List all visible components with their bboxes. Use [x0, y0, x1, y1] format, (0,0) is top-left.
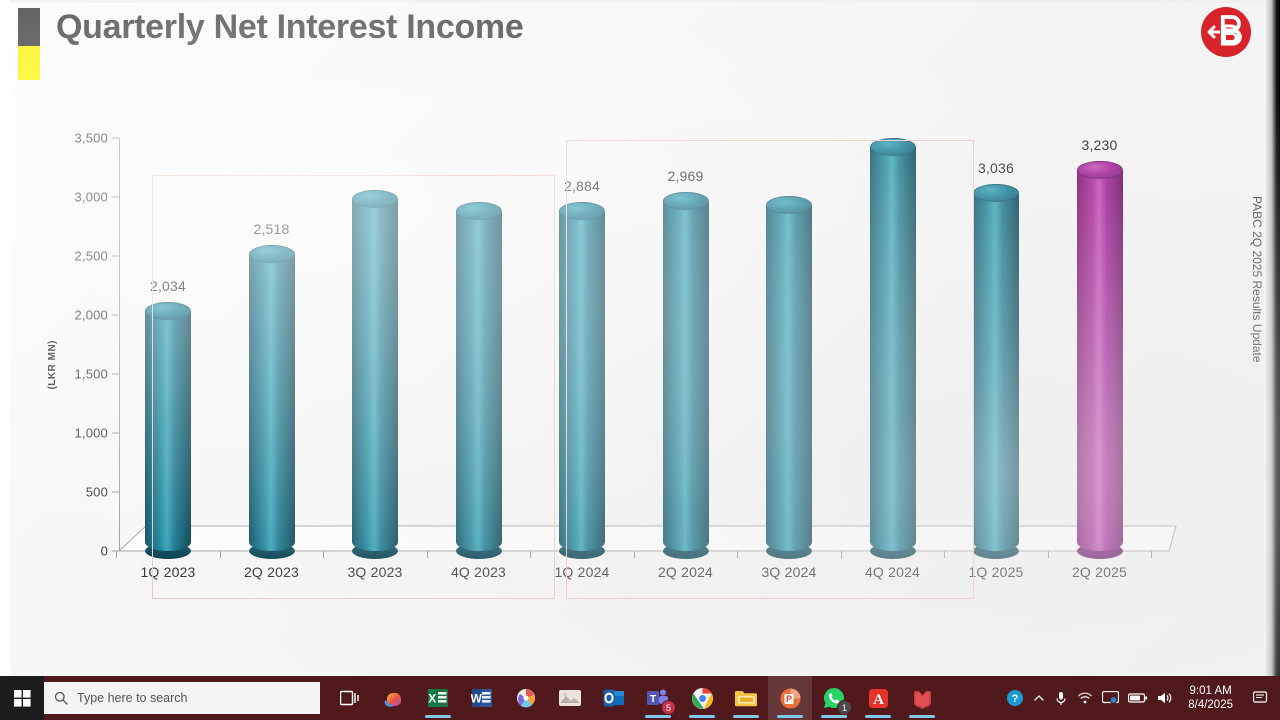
- bar-body: [1077, 170, 1123, 551]
- x-tick-mark: [116, 551, 117, 558]
- notification-badge: 5: [661, 700, 676, 715]
- bar-top-cap: [1077, 161, 1123, 179]
- running-indicator: [865, 715, 891, 718]
- y-tick-mark: [112, 492, 119, 493]
- notification-badge: 1: [837, 700, 852, 715]
- y-tick-label: 3,000: [20, 190, 108, 205]
- taskbar-file-explorer-icon[interactable]: [724, 676, 768, 720]
- system-tray: ?: [1006, 676, 1280, 720]
- y-tick-label: 2,500: [20, 249, 108, 264]
- running-indicator: [909, 715, 935, 718]
- battery-icon[interactable]: [1128, 692, 1148, 704]
- svg-text:?: ?: [1012, 693, 1019, 705]
- search-input[interactable]: Type here to search: [44, 682, 320, 714]
- svg-text:B: B: [1220, 19, 1240, 49]
- windows-logo-icon: [14, 690, 31, 707]
- search-icon: [54, 691, 68, 705]
- start-button[interactable]: [0, 676, 44, 720]
- title-accent-dark: [18, 8, 40, 46]
- y-tick-label: 3,500: [20, 131, 108, 146]
- bar-2q-2025[interactable]: [1077, 170, 1123, 551]
- bar-1q-2025[interactable]: [973, 193, 1019, 551]
- taskbar-powerpoint-icon[interactable]: P: [768, 676, 812, 720]
- y-tick-label: 500: [20, 485, 108, 500]
- taskbar-outlook-icon[interactable]: [592, 676, 636, 720]
- y-tick-mark: [112, 197, 119, 198]
- running-indicator: [821, 715, 847, 718]
- display-settings-icon[interactable]: [1102, 691, 1119, 705]
- taskbar-photos-icon[interactable]: [548, 676, 592, 720]
- svg-text:X: X: [428, 692, 436, 706]
- microphone-icon[interactable]: [1054, 691, 1068, 706]
- y-tick-mark: [112, 138, 119, 139]
- title-accent-yellow: [18, 46, 40, 80]
- bar-body: [973, 193, 1019, 551]
- y-tick-mark: [112, 374, 119, 375]
- volume-icon[interactable]: [1157, 691, 1173, 705]
- y-axis: [20, 78, 130, 618]
- fy2024-highlight-box: [566, 140, 974, 599]
- running-indicator: [733, 715, 759, 718]
- y-tick-mark: [112, 256, 119, 257]
- taskbar-copilot-icon[interactable]: [372, 676, 416, 720]
- x-tick-mark: [1151, 551, 1152, 558]
- clock-date: 8/4/2025: [1188, 698, 1233, 712]
- bar-value-label: 3,036: [978, 160, 1014, 176]
- presentation-slide: Quarterly Net Interest Income B PABC 2Q …: [0, 0, 1280, 676]
- y-tick-label: 1,000: [20, 426, 108, 441]
- svg-text:P: P: [785, 694, 791, 704]
- fy2023-highlight-box: [152, 175, 555, 599]
- taskbar-clock[interactable]: 9:01 AM 8/4/2025: [1182, 684, 1239, 713]
- slide-top-edge: [0, 0, 1280, 3]
- taskbar-paint-3d-icon[interactable]: [504, 676, 548, 720]
- windows-taskbar[interactable]: Type here to search XWT5P1A ?: [0, 676, 1280, 720]
- x-axis-label: 1Q 2025: [968, 564, 1023, 580]
- y-tick-label: 2,000: [20, 308, 108, 323]
- taskbar-acrobat-icon[interactable]: A: [856, 676, 900, 720]
- svg-text:T: T: [650, 694, 656, 705]
- running-indicator: [777, 715, 803, 718]
- search-placeholder-text: Type here to search: [77, 691, 187, 705]
- bar-top-cap: [973, 184, 1019, 202]
- running-indicator: [425, 715, 451, 718]
- taskbar-excel-icon[interactable]: X: [416, 676, 460, 720]
- taskbar-word-icon[interactable]: W: [460, 676, 504, 720]
- page-title: Quarterly Net Interest Income: [56, 8, 523, 47]
- running-indicator: [689, 715, 715, 718]
- help-icon[interactable]: ?: [1006, 689, 1024, 707]
- svg-text:A: A: [873, 692, 884, 708]
- clock-time: 9:01 AM: [1188, 684, 1233, 698]
- taskbar-whatsapp-icon[interactable]: 1: [812, 676, 856, 720]
- bar-value-label: 3,230: [1081, 137, 1117, 153]
- y-tick-mark: [112, 433, 119, 434]
- title-accent-mark: [18, 8, 40, 58]
- x-axis-label: 2Q 2025: [1072, 564, 1127, 580]
- y-tick-label: 0: [20, 544, 108, 559]
- x-tick-mark: [1048, 551, 1049, 558]
- y-tick-mark: [112, 315, 119, 316]
- taskbar-app-buttons: XWT5P1A: [320, 676, 944, 720]
- wifi-icon[interactable]: [1077, 691, 1093, 705]
- show-hidden-icons-chevron-up-icon[interactable]: [1033, 692, 1045, 704]
- y-tick-label: 1,500: [20, 367, 108, 382]
- taskbar-teams-icon[interactable]: T5: [636, 676, 680, 720]
- brand-logo: B: [1198, 4, 1254, 60]
- bar-chart: (LKR MN) 05001,0001,5002,0002,5003,0003,…: [0, 78, 1280, 618]
- svg-text:W: W: [471, 692, 483, 706]
- running-indicator: [645, 715, 671, 718]
- taskbar-task-view-icon[interactable]: [328, 676, 372, 720]
- taskbar-chrome-icon[interactable]: [680, 676, 724, 720]
- notification-center-icon[interactable]: [1248, 676, 1274, 720]
- taskbar-antivirus-icon[interactable]: [900, 676, 944, 720]
